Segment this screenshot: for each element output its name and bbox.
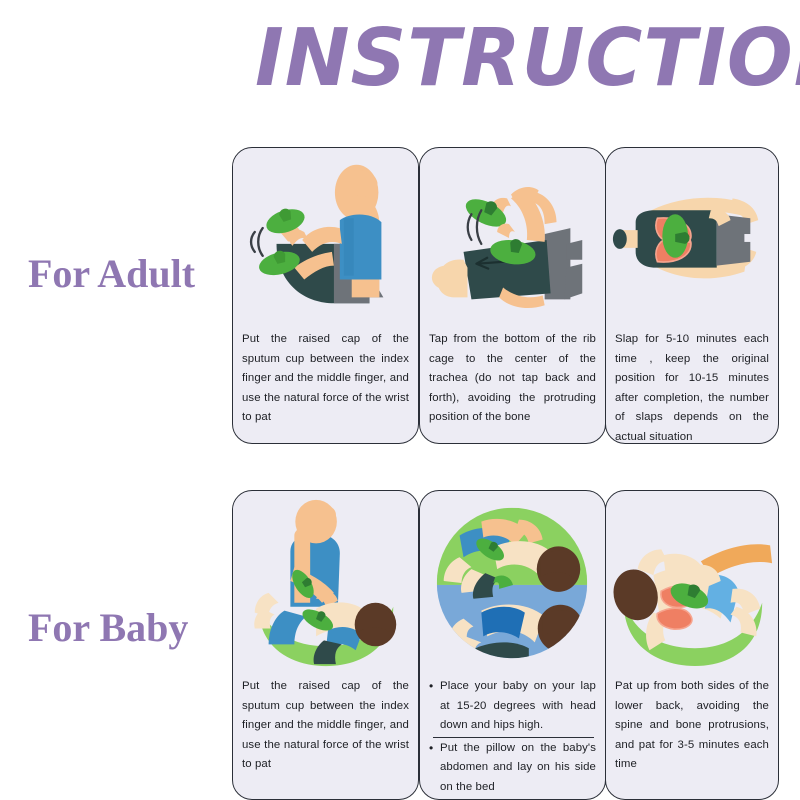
baby-card-2-caption: Place your baby on your lap at 15-20 deg… [420,671,605,800]
baby-two-positions-circle-icon [420,491,605,671]
baby-card-2: Place your baby on your lap at 15-20 deg… [419,490,606,800]
list-item: Put the pillow on the baby's abdomen and… [429,739,596,798]
baby-card-2-bullet-list: Place your baby on your lap at 15-20 deg… [429,677,596,797]
baby-card-1: Put the raised cap of the sputum cup bet… [232,490,419,800]
row-label-baby: For Baby [28,604,188,651]
adult-lungs-side-lying-icon [606,148,778,324]
row-label-adult: For Adult [28,250,195,297]
baby-on-lap-patting-icon [233,491,418,671]
list-item: Place your baby on your lap at 15-20 deg… [429,677,596,736]
adult-card-3: Slap for 5-10 minutes each time , keep t… [605,147,779,444]
page-title: INSTRUCTIONS [255,14,774,102]
instructions-infographic: INSTRUCTIONS For Adult [0,0,800,800]
adult-card-2-caption: Tap from the bottom of the rib cage to t… [420,324,605,443]
adult-card-2: Tap from the bottom of the rib cage to t… [419,147,606,444]
baby-card-3: Pat up from both sides of the lower back… [605,490,779,800]
adult-card-3-caption: Slap for 5-10 minutes each time , keep t… [606,324,778,444]
adult-reclined-patting-chest-icon [420,148,605,324]
baby-card-1-caption: Put the raised cap of the sputum cup bet… [233,671,418,799]
bullet-divider [433,737,594,738]
baby-lungs-prone-patting-icon [606,491,778,671]
adult-card-1-caption: Put the raised cap of the sputum cup bet… [233,324,418,443]
adult-seated-patting-back-icon [233,148,418,324]
baby-card-3-caption: Pat up from both sides of the lower back… [606,671,778,799]
adult-card-1: Put the raised cap of the sputum cup bet… [232,147,419,444]
